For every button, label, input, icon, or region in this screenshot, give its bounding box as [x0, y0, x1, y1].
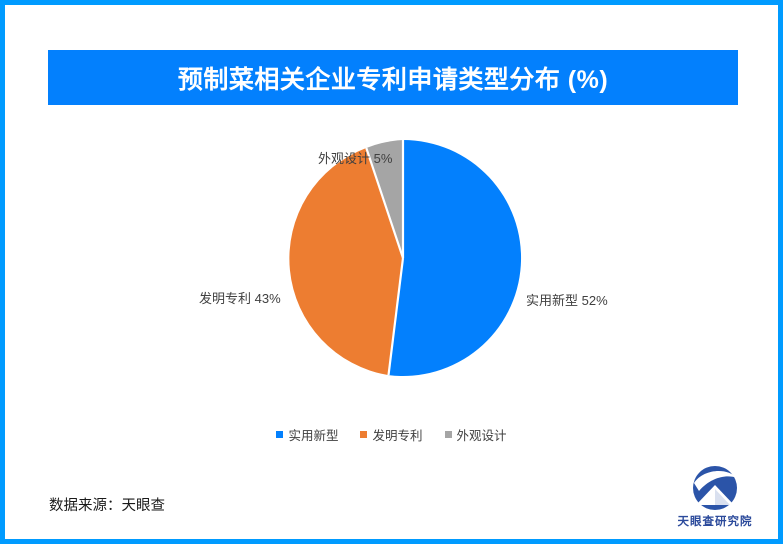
- chart-page: 预制菜相关企业专利申请类型分布 (%) 外观设计 5% 发明专利 43% 实用新…: [0, 0, 783, 544]
- legend-swatch-icon: [360, 431, 367, 438]
- legend-label: 实用新型: [288, 425, 338, 444]
- legend-swatch-icon: [445, 431, 452, 438]
- pie-chart: 外观设计 5% 发明专利 43% 实用新型 52% 实用新型 发明专利 外观设计: [5, 115, 778, 455]
- title-banner: 预制菜相关企业专利申请类型分布 (%): [48, 50, 738, 105]
- pie-slice-utility: [389, 140, 522, 376]
- chart-legend: 实用新型 发明专利 外观设计: [5, 425, 778, 444]
- pie-svg: [280, 135, 526, 381]
- legend-item-invention[interactable]: 发明专利: [360, 425, 422, 444]
- legend-label: 外观设计: [457, 425, 507, 444]
- page-title: 预制菜相关企业专利申请类型分布 (%): [178, 60, 608, 96]
- pie-label-utility: 实用新型 52%: [526, 290, 608, 309]
- tianyancha-eye-icon: [687, 465, 743, 511]
- legend-item-design[interactable]: 外观设计: [445, 425, 507, 444]
- legend-swatch-icon: [276, 431, 283, 438]
- legend-label: 发明专利: [372, 425, 422, 444]
- brand-logo: 天眼查研究院: [669, 465, 761, 533]
- pie-label-invention: 发明专利 43%: [199, 288, 281, 307]
- logo-text: 天眼查研究院: [669, 513, 761, 529]
- pie-label-design: 外观设计 5%: [318, 148, 392, 167]
- legend-item-utility[interactable]: 实用新型: [276, 425, 338, 444]
- pie-graphic: [280, 135, 526, 381]
- source-note: 数据来源：天眼查: [49, 494, 165, 515]
